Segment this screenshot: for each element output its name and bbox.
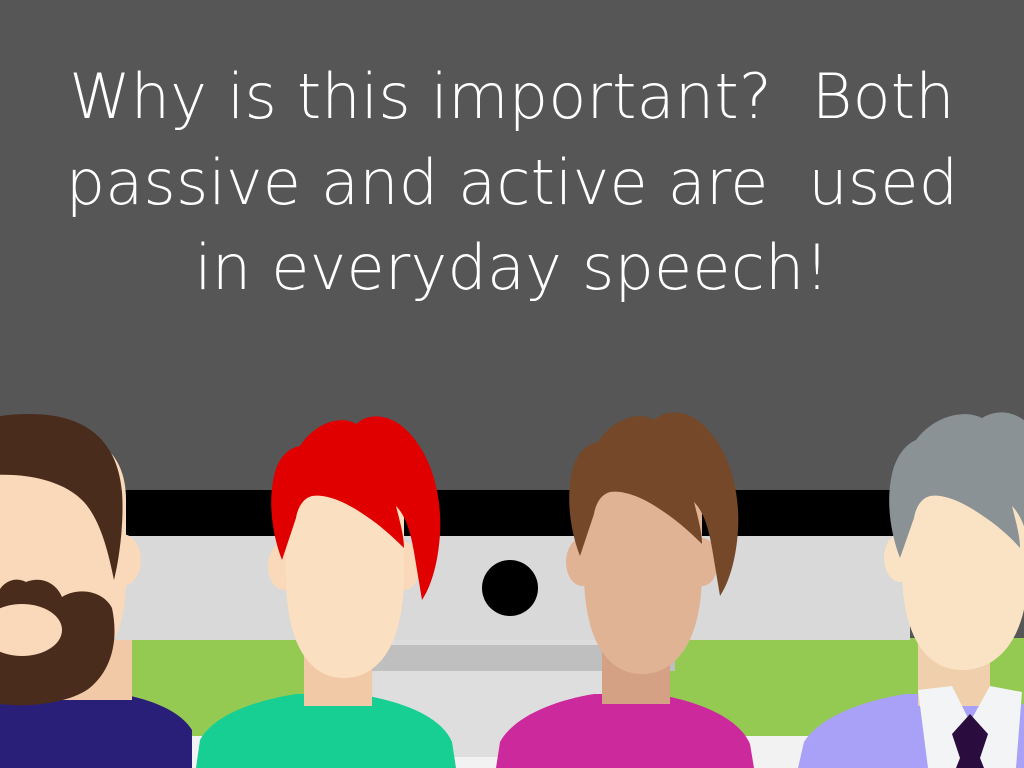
classroom-illustration [0, 0, 1024, 768]
presentation-slide: Why is this important? Both passive and … [0, 0, 1024, 768]
projector-lens-icon [482, 560, 538, 616]
whiteboard-top-bar [115, 490, 910, 536]
